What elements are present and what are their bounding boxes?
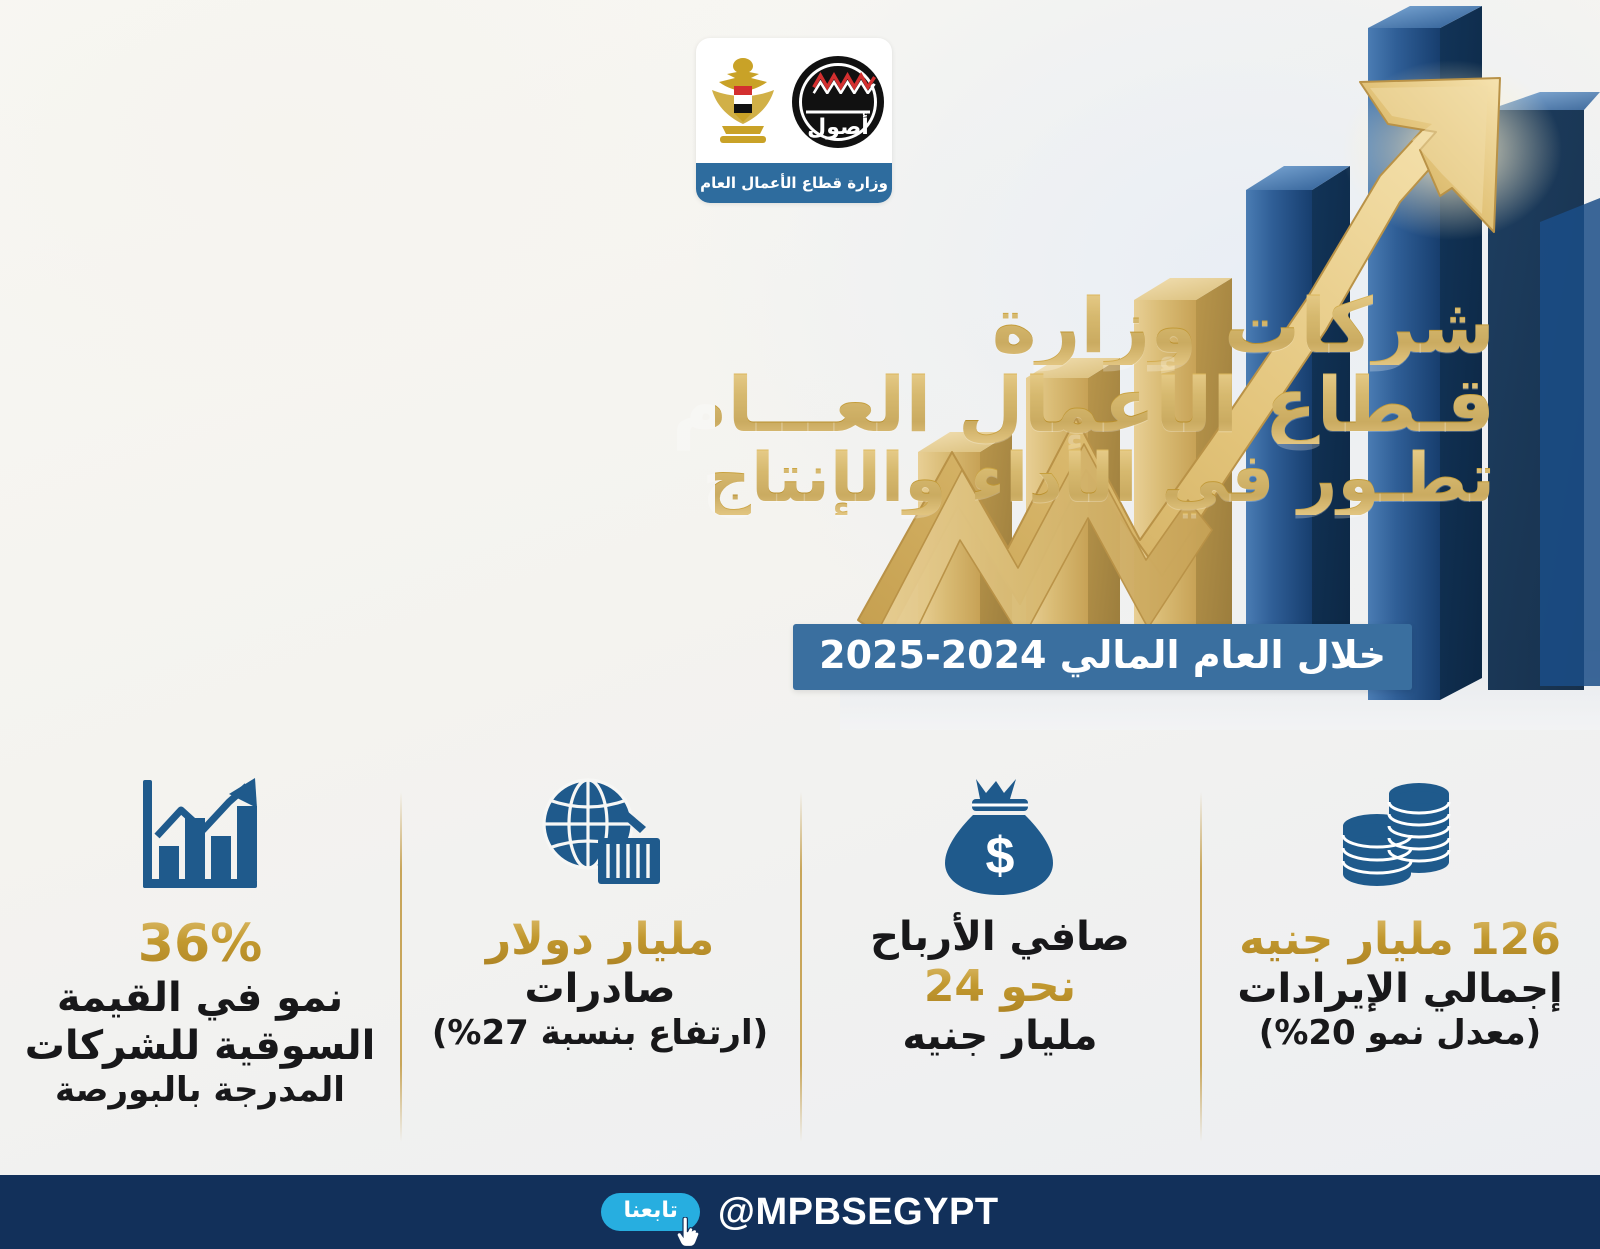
stat-unit: مليار جنيه: [870, 1013, 1130, 1060]
card-divider: [800, 792, 802, 1142]
card-divider: [1200, 792, 1202, 1142]
stat-note: (معدل نمو 20%): [1237, 1013, 1562, 1053]
social-handle: @MPBSEGYPT: [718, 1191, 999, 1234]
stat-label: نمو في القيمة السوقية للشركات: [14, 975, 386, 1069]
bar-chart-growth-icon: [137, 770, 263, 900]
bar-blue-wedge: [1540, 198, 1600, 686]
stat-card-market-value: 36% نمو في القيمة السوقية للشركات المدرج…: [0, 770, 400, 1170]
asool-seal-icon: أصول: [792, 56, 884, 148]
stat-note: (ارتفاع بنسبة 27%): [432, 1013, 768, 1053]
stat-value: نحو 24: [870, 961, 1130, 1013]
stat-value: مليار دولار: [432, 914, 768, 966]
follow-us-button[interactable]: تابعنا: [601, 1193, 699, 1231]
card-divider: [400, 792, 402, 1142]
ministry-logo: أصول: [696, 38, 892, 203]
stat-label: صادرات: [432, 966, 768, 1013]
stat-label: صافي الأرباح: [870, 914, 1130, 961]
infographic-canvas: أصول: [0, 0, 1600, 1249]
svg-text:أصول: أصول: [807, 111, 869, 140]
stat-card-net-profits: $ صافي الأرباح نحو 24 مليار جنيه: [800, 770, 1200, 1170]
headline-line-1: شركات وزارة: [715, 286, 1495, 365]
svg-text:$: $: [986, 827, 1015, 885]
stat-card-total-revenues: 126 مليار جنيه إجمالي الإيرادات (معدل نم…: [1200, 770, 1600, 1170]
pointing-hand-cursor-icon: [674, 1217, 704, 1249]
egypt-eagle-icon: [704, 52, 782, 152]
headline-line-3: تطـور في الأداء والإنتاج: [715, 444, 1495, 515]
stat-value: 36%: [14, 914, 386, 975]
fiscal-year-badge: خلال العام المالي 2024-2025: [793, 624, 1412, 690]
stat-value: 126 مليار جنيه: [1237, 914, 1562, 966]
coins-stack-icon: [1335, 770, 1465, 900]
logo-banner: وزارة قطاع الأعمال العام: [696, 163, 892, 203]
globe-shipping-container-icon: [536, 770, 664, 900]
follow-us-label: تابعنا: [623, 1198, 677, 1223]
footer-bar: تابعنا @MPBSEGYPT: [0, 1175, 1600, 1249]
stat-label: إجمالي الإيرادات: [1237, 966, 1562, 1013]
money-bag-dollar-icon: $: [942, 770, 1058, 900]
page-title: شركات وزارة قـطاع الأعمال العـــام تطـور…: [715, 286, 1495, 515]
stat-note: المدرجة بالبورصة: [14, 1070, 386, 1110]
stats-row: 126 مليار جنيه إجمالي الإيرادات (معدل نم…: [0, 770, 1600, 1170]
headline-line-2: قـطاع الأعمال العـــام: [715, 365, 1495, 444]
logo-banner-text: وزارة قطاع الأعمال العام: [700, 174, 888, 192]
stat-card-exports: مليار دولار صادرات (ارتفاع بنسبة 27%): [400, 770, 800, 1170]
